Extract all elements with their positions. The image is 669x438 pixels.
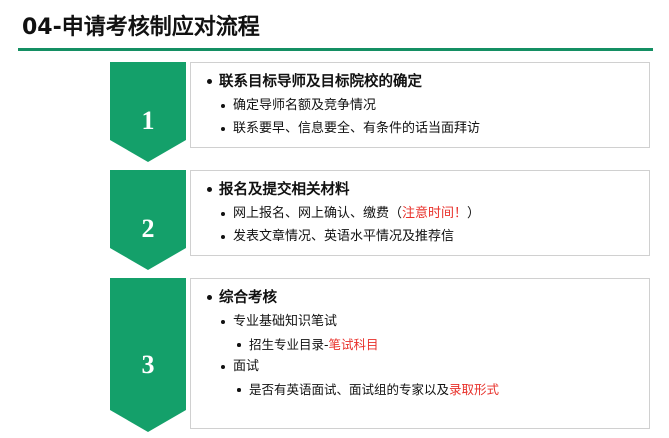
step-2-item-0: 网上报名、网上确认、缴费（注意时间！）: [205, 206, 635, 223]
chevron-down-icon: [110, 410, 186, 432]
step-1-item-0: 确定导师名额及竞争情况: [205, 98, 635, 115]
step-3-item-1-highlight: 笔试科目: [329, 337, 379, 352]
step-1-number: 1: [142, 108, 155, 134]
step-3-item-1-text: 招生专业目录-: [249, 337, 329, 352]
step-2-heading: 报名及提交相关材料: [205, 181, 635, 199]
step-3-item-3: 是否有英语面试、面试组的专家以及录取形式: [205, 382, 635, 398]
step-2-item-0-tail: ）: [467, 206, 480, 221]
step-2-box: 报名及提交相关材料 网上报名、网上确认、缴费（注意时间！） 发表文章情况、英语水…: [190, 170, 650, 256]
step-1-arrow: 1: [110, 62, 186, 140]
step-3-heading: 综合考核: [205, 289, 635, 307]
step-1-box: 联系目标导师及目标院校的确定 确定导师名额及竞争情况 联系要早、信息要全、有条件…: [190, 62, 650, 148]
step-1-heading: 联系目标导师及目标院校的确定: [205, 73, 635, 91]
step-3-arrow: 3: [110, 278, 186, 410]
chevron-down-icon: [110, 248, 186, 270]
step-3-box: 综合考核 专业基础知识笔试 招生专业目录-笔试科目 面试 是否有英语面试、面试组…: [190, 278, 650, 429]
step-3-item-1: 招生专业目录-笔试科目: [205, 337, 635, 353]
step-3-number: 3: [142, 352, 155, 378]
step-2-item-1: 发表文章情况、英语水平情况及推荐信: [205, 229, 635, 246]
step-2-number: 2: [142, 216, 155, 242]
chevron-down-icon: [110, 140, 186, 162]
page-title: 04-申请考核制应对流程: [22, 9, 260, 41]
step-3-item-0: 专业基础知识笔试: [205, 314, 635, 331]
title-underline: [18, 48, 653, 51]
step-2-item-0-text: 网上报名、网上确认、缴费（: [233, 206, 402, 221]
step-2-arrow: 2: [110, 170, 186, 248]
page-header: 04-申请考核制应对流程: [0, 0, 669, 52]
step-2-item-0-highlight: 注意时间！: [402, 206, 467, 221]
step-3-item-3-text: 是否有英语面试、面试组的专家以及: [249, 382, 449, 397]
step-3-item-3-highlight: 录取形式: [449, 382, 499, 397]
step-1-item-1: 联系要早、信息要全、有条件的话当面拜访: [205, 121, 635, 138]
step-3-item-2: 面试: [205, 359, 635, 376]
